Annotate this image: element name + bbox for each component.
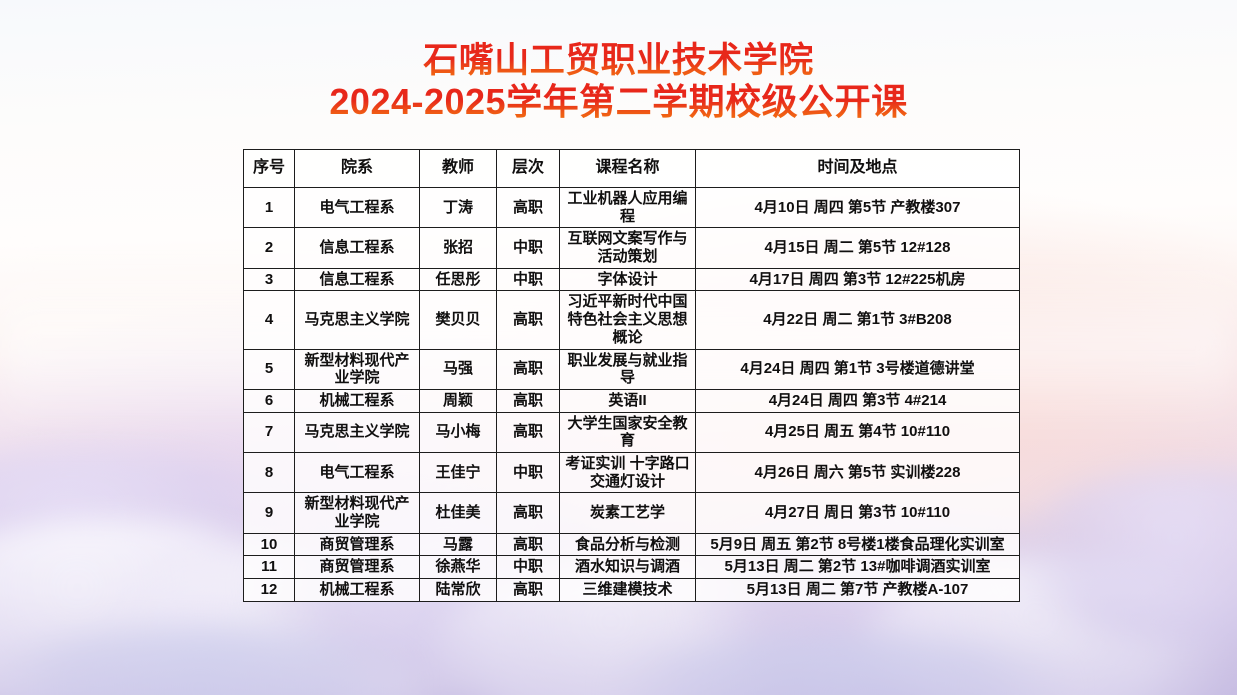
cell-course: 大学生国家安全教育 (560, 412, 696, 452)
schedule-table-container: 序号 院系 教师 层次 课程名称 时间及地点 1电气工程系丁涛高职工业机器人应用… (243, 149, 1019, 602)
cell-level: 高职 (497, 291, 560, 349)
table-row: 1电气工程系丁涛高职工业机器人应用编程4月10日 周四 第5节 产教楼307 (244, 188, 1020, 228)
cell-teacher: 徐燕华 (420, 556, 497, 579)
table-row: 10商贸管理系马露高职食品分析与检测5月9日 周五 第2节 8号楼1楼食品理化实… (244, 533, 1020, 556)
slide-page: 石嘴山工贸职业技术学院 2024-2025学年第二学期校级公开课 序号 院系 教… (0, 0, 1237, 695)
cell-teacher: 王佳宁 (420, 452, 497, 492)
cell-when: 4月22日 周二 第1节 3#B208 (696, 291, 1020, 349)
cell-dept: 信息工程系 (295, 268, 420, 291)
cell-dept: 马克思主义学院 (295, 412, 420, 452)
cell-no: 11 (244, 556, 295, 579)
cell-when: 4月24日 周四 第3节 4#214 (696, 389, 1020, 412)
cell-course: 食品分析与检测 (560, 533, 696, 556)
cell-level: 高职 (497, 188, 560, 228)
cell-when: 4月26日 周六 第5节 实训楼228 (696, 452, 1020, 492)
schedule-table-body: 1电气工程系丁涛高职工业机器人应用编程4月10日 周四 第5节 产教楼3072信… (244, 188, 1020, 602)
cell-no: 3 (244, 268, 295, 291)
cell-teacher: 马小梅 (420, 412, 497, 452)
cell-level: 高职 (497, 493, 560, 533)
cell-dept: 电气工程系 (295, 188, 420, 228)
cell-teacher: 丁涛 (420, 188, 497, 228)
cell-course: 考证实训 十字路口交通灯设计 (560, 452, 696, 492)
cell-level: 中职 (497, 452, 560, 492)
cell-dept: 商贸管理系 (295, 533, 420, 556)
table-row: 4马克思主义学院樊贝贝高职习近平新时代中国特色社会主义思想概论4月22日 周二 … (244, 291, 1020, 349)
column-header-no: 序号 (244, 150, 295, 188)
cell-dept: 机械工程系 (295, 389, 420, 412)
cell-level: 高职 (497, 533, 560, 556)
cell-teacher: 樊贝贝 (420, 291, 497, 349)
cell-no: 4 (244, 291, 295, 349)
cell-course: 互联网文案写作与活动策划 (560, 228, 696, 268)
title-line-subject: 2024-2025学年第二学期校级公开课 (0, 81, 1237, 122)
cell-when: 4月24日 周四 第1节 3号楼道德讲堂 (696, 349, 1020, 389)
column-header-course: 课程名称 (560, 150, 696, 188)
cell-level: 高职 (497, 389, 560, 412)
schedule-table: 序号 院系 教师 层次 课程名称 时间及地点 1电气工程系丁涛高职工业机器人应用… (243, 149, 1020, 602)
cell-when: 5月13日 周二 第2节 13#咖啡调酒实训室 (696, 556, 1020, 579)
cell-teacher: 马强 (420, 349, 497, 389)
cell-when: 4月17日 周四 第3节 12#225机房 (696, 268, 1020, 291)
page-title: 石嘴山工贸职业技术学院 2024-2025学年第二学期校级公开课 (0, 40, 1237, 122)
cell-dept: 商贸管理系 (295, 556, 420, 579)
cell-when: 4月10日 周四 第5节 产教楼307 (696, 188, 1020, 228)
cell-when: 4月25日 周五 第4节 10#110 (696, 412, 1020, 452)
column-header-dept: 院系 (295, 150, 420, 188)
cell-no: 6 (244, 389, 295, 412)
table-row: 7马克思主义学院马小梅高职大学生国家安全教育4月25日 周五 第4节 10#11… (244, 412, 1020, 452)
cell-course: 炭素工艺学 (560, 493, 696, 533)
cell-teacher: 杜佳美 (420, 493, 497, 533)
cell-dept: 机械工程系 (295, 579, 420, 602)
table-header-row: 序号 院系 教师 层次 课程名称 时间及地点 (244, 150, 1020, 188)
cell-course: 三维建模技术 (560, 579, 696, 602)
cell-course: 习近平新时代中国特色社会主义思想概论 (560, 291, 696, 349)
cell-dept: 信息工程系 (295, 228, 420, 268)
cell-level: 中职 (497, 268, 560, 291)
table-row: 12机械工程系陆常欣高职三维建模技术5月13日 周二 第7节 产教楼A-107 (244, 579, 1020, 602)
cell-no: 1 (244, 188, 295, 228)
table-row: 6机械工程系周颖高职英语II4月24日 周四 第3节 4#214 (244, 389, 1020, 412)
table-row: 8电气工程系王佳宁中职考证实训 十字路口交通灯设计4月26日 周六 第5节 实训… (244, 452, 1020, 492)
cell-level: 中职 (497, 228, 560, 268)
cell-dept: 新型材料现代产业学院 (295, 349, 420, 389)
column-header-when: 时间及地点 (696, 150, 1020, 188)
cell-course: 酒水知识与调酒 (560, 556, 696, 579)
cell-course: 工业机器人应用编程 (560, 188, 696, 228)
cell-no: 8 (244, 452, 295, 492)
cell-no: 7 (244, 412, 295, 452)
cell-level: 高职 (497, 349, 560, 389)
cell-level: 中职 (497, 556, 560, 579)
cell-teacher: 陆常欣 (420, 579, 497, 602)
table-row: 9新型材料现代产业学院杜佳美高职炭素工艺学4月27日 周日 第3节 10#110 (244, 493, 1020, 533)
cell-level: 高职 (497, 579, 560, 602)
cell-no: 9 (244, 493, 295, 533)
cell-dept: 新型材料现代产业学院 (295, 493, 420, 533)
cell-no: 12 (244, 579, 295, 602)
cell-no: 5 (244, 349, 295, 389)
table-row: 5新型材料现代产业学院马强高职职业发展与就业指导4月24日 周四 第1节 3号楼… (244, 349, 1020, 389)
cell-teacher: 马露 (420, 533, 497, 556)
table-row: 11商贸管理系徐燕华中职酒水知识与调酒5月13日 周二 第2节 13#咖啡调酒实… (244, 556, 1020, 579)
table-row: 3信息工程系任思彤中职字体设计4月17日 周四 第3节 12#225机房 (244, 268, 1020, 291)
cell-course: 英语II (560, 389, 696, 412)
cell-no: 2 (244, 228, 295, 268)
column-header-level: 层次 (497, 150, 560, 188)
cell-teacher: 张招 (420, 228, 497, 268)
cell-teacher: 周颖 (420, 389, 497, 412)
cell-course: 职业发展与就业指导 (560, 349, 696, 389)
table-row: 2信息工程系张招中职互联网文案写作与活动策划4月15日 周二 第5节 12#12… (244, 228, 1020, 268)
cell-no: 10 (244, 533, 295, 556)
cell-when: 5月13日 周二 第7节 产教楼A-107 (696, 579, 1020, 602)
column-header-teacher: 教师 (420, 150, 497, 188)
cell-when: 5月9日 周五 第2节 8号楼1楼食品理化实训室 (696, 533, 1020, 556)
cell-when: 4月27日 周日 第3节 10#110 (696, 493, 1020, 533)
cell-dept: 马克思主义学院 (295, 291, 420, 349)
title-line-institution: 石嘴山工贸职业技术学院 (0, 40, 1237, 81)
cell-teacher: 任思彤 (420, 268, 497, 291)
cell-level: 高职 (497, 412, 560, 452)
cell-course: 字体设计 (560, 268, 696, 291)
cell-dept: 电气工程系 (295, 452, 420, 492)
cell-when: 4月15日 周二 第5节 12#128 (696, 228, 1020, 268)
